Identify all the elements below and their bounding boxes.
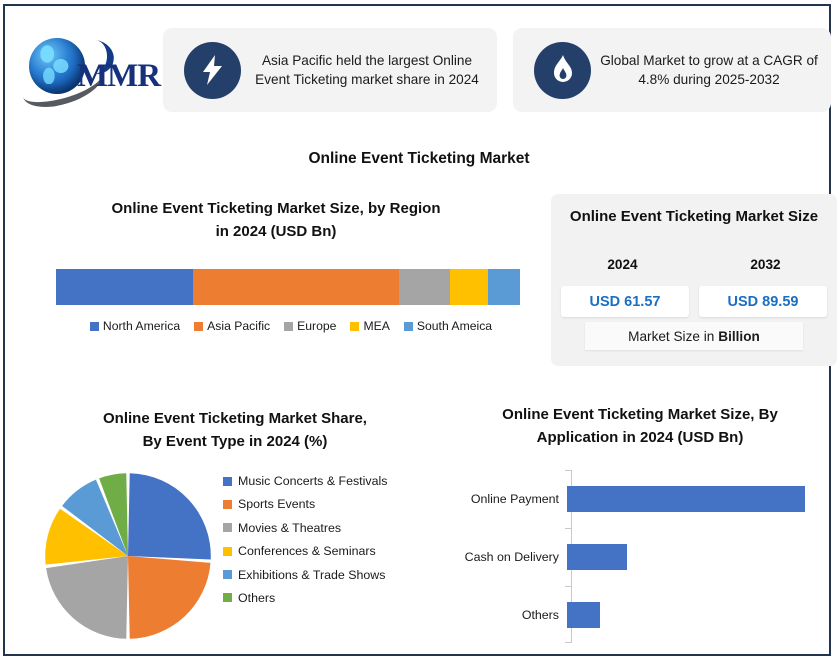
region-legend-item: Asia Pacific: [194, 319, 270, 333]
region-segment: [450, 269, 488, 305]
pie-legend-label: Sports Events: [238, 497, 315, 511]
pie-legend-item: Music Concerts & Festivals: [223, 474, 433, 488]
market-size-year-left: 2024: [551, 257, 694, 272]
application-bar-row: Others: [455, 602, 825, 628]
region-legend-label: South Ameica: [417, 319, 492, 333]
mmr-logo: MMR: [23, 30, 153, 102]
pie-chart-title-line2: By Event Type in 2024 (%): [35, 431, 435, 454]
region-stacked-bar: [56, 269, 520, 305]
legend-swatch-icon: [223, 570, 232, 579]
market-size-card: Online Event Ticketing Market Size 2024 …: [551, 194, 837, 366]
legend-swatch-icon: [223, 523, 232, 532]
axis-tick: [565, 642, 572, 643]
pie-legend-item: Others: [223, 591, 433, 605]
pie-legend-item: Conferences & Seminars: [223, 544, 433, 558]
kpi-card-cagr: Global Market to grow at a CAGR of 4.8% …: [513, 28, 831, 112]
legend-swatch-icon: [90, 322, 99, 331]
flame-icon: [534, 42, 591, 99]
region-chart-title-line1: Online Event Ticketing Market Size, by R…: [41, 198, 511, 221]
market-size-footer: Market Size in Billion: [585, 322, 803, 350]
market-size-title: Online Event Ticketing Market Size: [551, 206, 837, 228]
application-chart-title-line2: Application in 2024 (USD Bn): [445, 427, 835, 450]
kpi-text-region-share: Asia Pacific held the largest Online Eve…: [241, 51, 497, 90]
region-segment: [488, 269, 520, 305]
region-legend-item: North America: [90, 319, 180, 333]
legend-swatch-icon: [223, 547, 232, 556]
market-size-values: USD 61.57 USD 89.59: [561, 286, 827, 317]
infographic-frame: MMR Asia Pacific held the largest Online…: [3, 4, 831, 656]
region-segment: [193, 269, 399, 305]
market-size-footer-unit: Billion: [718, 329, 760, 344]
lightning-bolt-glyph: [200, 55, 226, 85]
application-chart-title: Online Event Ticketing Market Size, By A…: [445, 404, 835, 449]
event-type-pie-chart: [38, 466, 218, 646]
region-segment: [56, 269, 193, 305]
page-title: Online Event Ticketing Market: [5, 150, 833, 168]
kpi-text-cagr: Global Market to grow at a CAGR of 4.8% …: [591, 51, 831, 90]
region-legend-label: Europe: [297, 319, 336, 333]
kpi-card-region-share: Asia Pacific held the largest Online Eve…: [163, 28, 497, 112]
market-size-year-right: 2032: [694, 257, 837, 272]
legend-swatch-icon: [223, 500, 232, 509]
pie-slice: [128, 556, 211, 639]
axis-tick: [565, 528, 572, 529]
region-legend-label: Asia Pacific: [207, 319, 270, 333]
market-size-footer-prefix: Market Size in: [628, 329, 714, 344]
pie-legend-label: Music Concerts & Festivals: [238, 474, 387, 488]
legend-swatch-icon: [284, 322, 293, 331]
region-legend: North AmericaAsia PacificEuropeMEASouth …: [56, 319, 526, 333]
axis-tick: [565, 470, 572, 471]
application-chart-title-line1: Online Event Ticketing Market Size, By: [445, 404, 835, 427]
region-legend-label: North America: [103, 319, 180, 333]
pie-legend-item: Movies & Theatres: [223, 521, 433, 535]
pie-legend-label: Conferences & Seminars: [238, 544, 376, 558]
pie-legend-item: Sports Events: [223, 497, 433, 511]
legend-swatch-icon: [223, 477, 232, 486]
axis-tick: [565, 586, 572, 587]
flame-glyph: [551, 55, 575, 85]
pie-legend-label: Movies & Theatres: [238, 521, 341, 535]
application-bar: [567, 486, 805, 512]
pie-legend-label: Exhibitions & Trade Shows: [238, 568, 385, 582]
region-legend-item: Europe: [284, 319, 336, 333]
region-legend-item: MEA: [350, 319, 389, 333]
pie-svg: [38, 466, 218, 646]
top-banner: MMR Asia Pacific held the largest Online…: [5, 6, 833, 136]
market-size-value-2024: USD 61.57: [561, 286, 689, 317]
region-legend-item: South Ameica: [404, 319, 492, 333]
region-legend-label: MEA: [363, 319, 389, 333]
region-chart-title-line2: in 2024 (USD Bn): [41, 221, 511, 244]
application-bar-label: Cash on Delivery: [455, 550, 567, 564]
application-bar-chart: Online PaymentCash on DeliveryOthers: [455, 468, 825, 646]
legend-swatch-icon: [404, 322, 413, 331]
pie-legend-label: Others: [238, 591, 275, 605]
pie-slice: [46, 556, 128, 639]
application-bar: [567, 602, 600, 628]
pie-chart-title-line1: Online Event Ticketing Market Share,: [35, 408, 435, 431]
pie-legend: Music Concerts & FestivalsSports EventsM…: [223, 474, 433, 614]
application-bar: [567, 544, 627, 570]
application-bar-row: Cash on Delivery: [455, 544, 825, 570]
legend-swatch-icon: [350, 322, 359, 331]
application-bar-label: Others: [455, 608, 567, 622]
region-chart-title: Online Event Ticketing Market Size, by R…: [41, 198, 511, 243]
region-segment: [399, 269, 450, 305]
legend-swatch-icon: [223, 593, 232, 602]
brand-name: MMR: [77, 58, 160, 95]
pie-legend-item: Exhibitions & Trade Shows: [223, 568, 433, 582]
legend-swatch-icon: [194, 322, 203, 331]
market-size-years: 2024 2032: [551, 257, 837, 272]
market-size-value-2032: USD 89.59: [699, 286, 827, 317]
pie-slice: [128, 473, 211, 559]
pie-chart-title: Online Event Ticketing Market Share, By …: [35, 408, 435, 453]
application-bar-label: Online Payment: [455, 492, 567, 506]
application-bar-row: Online Payment: [455, 486, 825, 512]
lightning-bolt-icon: [184, 42, 241, 99]
